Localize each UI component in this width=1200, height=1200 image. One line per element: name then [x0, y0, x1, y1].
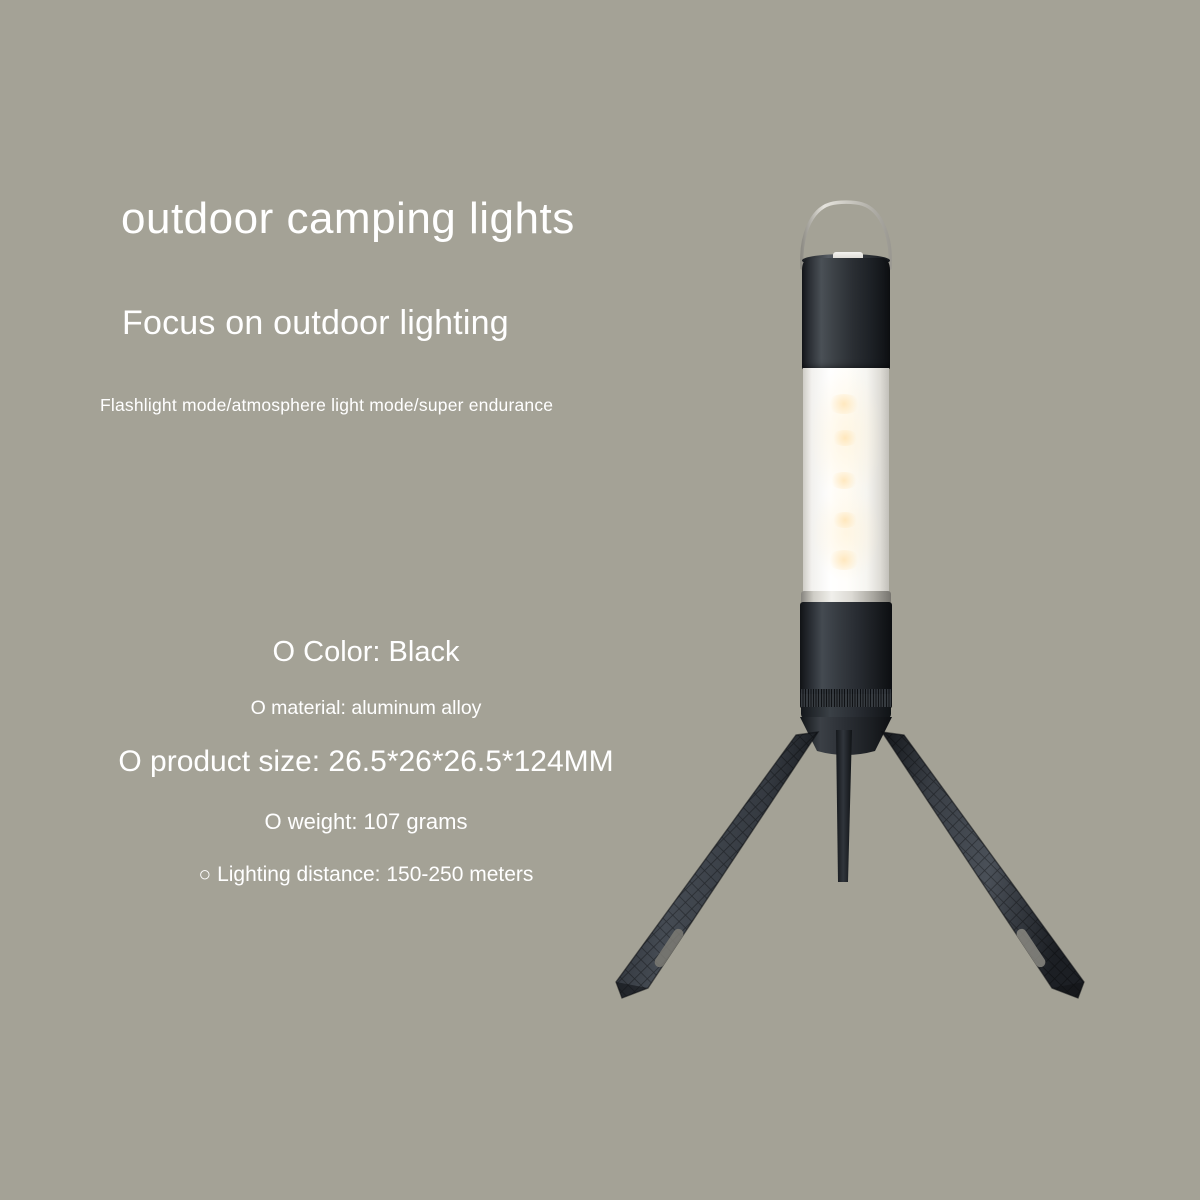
led-glow-icon [827, 550, 861, 570]
top-cap [802, 258, 890, 370]
tripod-leg-center [836, 730, 852, 882]
knurled-grip-band [800, 689, 892, 708]
led-glow-icon [831, 512, 859, 528]
product-photo [0, 0, 1200, 1200]
light-diffuser [803, 368, 889, 596]
led-glow-icon [831, 430, 859, 446]
led-glow-icon [827, 394, 861, 414]
battery-housing [800, 602, 892, 694]
led-glow-icon [829, 472, 859, 489]
tripod-legs [590, 730, 1110, 1020]
product-banner: outdoor camping lights Focus on outdoor … [0, 0, 1200, 1200]
